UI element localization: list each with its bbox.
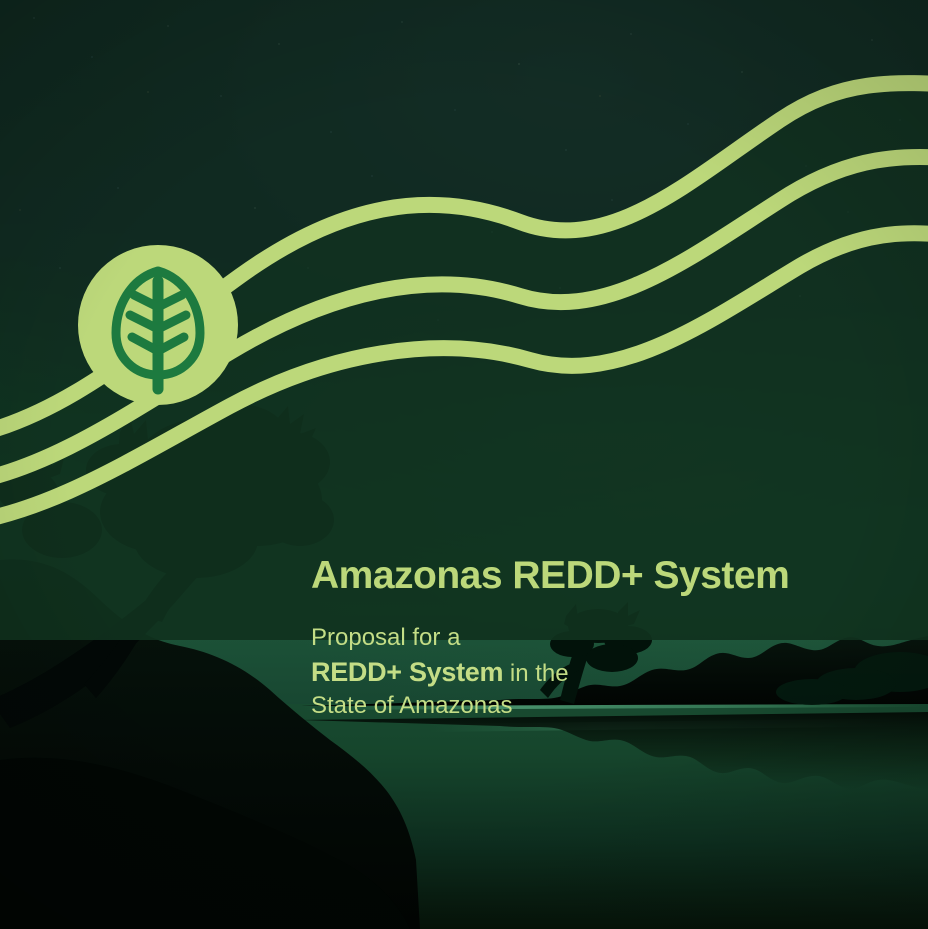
- page-subtitle: Proposal for a REDD+ System in the State…: [311, 597, 871, 722]
- leaf-icon: [78, 245, 238, 405]
- title-block: Amazonas REDD+ System Proposal for a RED…: [311, 556, 871, 722]
- subtitle-line-2-strong: REDD+ System: [311, 657, 503, 687]
- cover-page: Amazonas REDD+ System Proposal for a RED…: [0, 0, 928, 929]
- leaf-badge: [78, 245, 238, 405]
- decorative-waves: [0, 0, 928, 929]
- page-title: Amazonas REDD+ System: [311, 556, 871, 597]
- subtitle-line-1: Proposal for a: [311, 622, 871, 654]
- subtitle-line-2-rest: in the: [503, 660, 568, 687]
- subtitle-line-2: REDD+ System in the: [311, 654, 871, 690]
- subtitle-line-3: State of Amazonas: [311, 690, 871, 722]
